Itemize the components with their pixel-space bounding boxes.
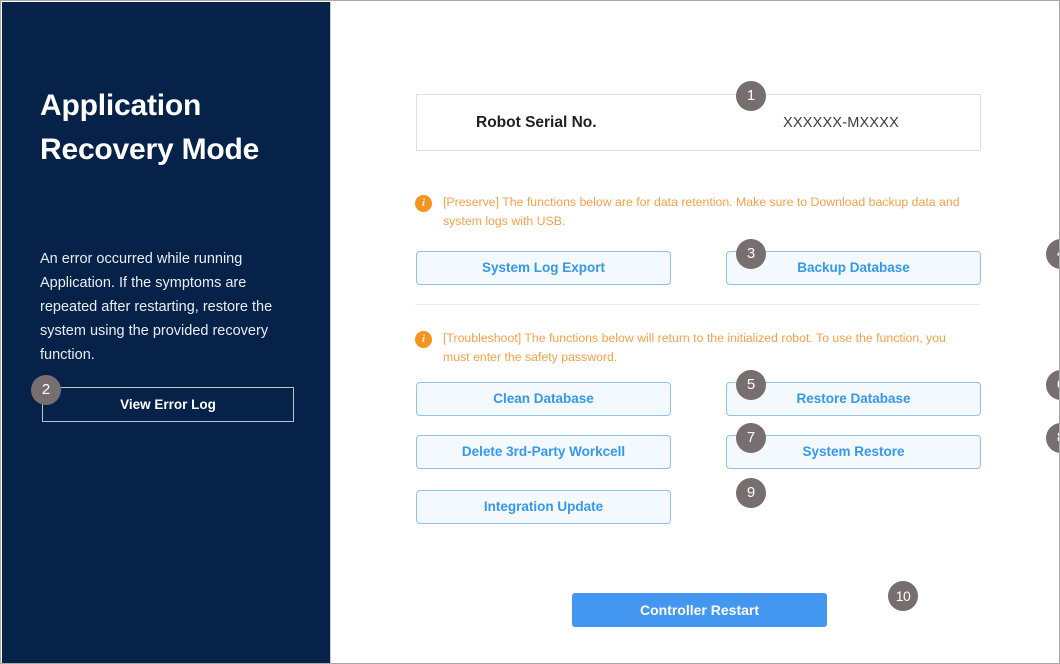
step-badge-8: 8 (1046, 423, 1060, 453)
step-badge-2: 2 (31, 375, 61, 405)
step-badge-5: 5 (736, 370, 766, 400)
main-content: Robot Serial No. XXXXXX-MXXXX i [Preserv… (332, 2, 1060, 664)
info-icon: i (415, 331, 432, 348)
troubleshoot-notice-text: [Troubleshoot] The functions below will … (443, 329, 975, 366)
page-title: Application Recovery Mode (40, 84, 300, 172)
section-divider (415, 304, 981, 305)
robot-serial-panel: Robot Serial No. XXXXXX-MXXXX (416, 94, 981, 151)
robot-serial-value: XXXXXX-MXXXX (783, 115, 899, 131)
preserve-notice-text: [Preserve] The functions below are for d… (443, 193, 975, 230)
clean-database-button[interactable]: Clean Database (416, 382, 671, 416)
sidebar-description: An error occurred while running Applicat… (40, 247, 292, 367)
system-log-export-button[interactable]: System Log Export (416, 251, 671, 285)
step-badge-10: 10 (888, 581, 918, 611)
step-badge-9: 9 (736, 478, 766, 508)
step-badge-1: 1 (736, 81, 766, 111)
step-badge-3: 3 (736, 239, 766, 269)
robot-serial-label: Robot Serial No. (476, 114, 597, 132)
integration-update-button[interactable]: Integration Update (416, 490, 671, 524)
step-badge-7: 7 (736, 423, 766, 453)
sidebar: Application Recovery Mode An error occur… (2, 2, 331, 664)
step-badge-6: 6 (1046, 370, 1060, 400)
info-icon: i (415, 195, 432, 212)
view-error-log-button[interactable]: View Error Log (42, 387, 294, 422)
controller-restart-button[interactable]: Controller Restart (572, 593, 827, 627)
application-recovery-mode-screen: Application Recovery Mode An error occur… (0, 0, 1060, 664)
step-badge-4: 4 (1046, 239, 1060, 269)
delete-3rd-party-workcell-button[interactable]: Delete 3rd-Party Workcell (416, 435, 671, 469)
